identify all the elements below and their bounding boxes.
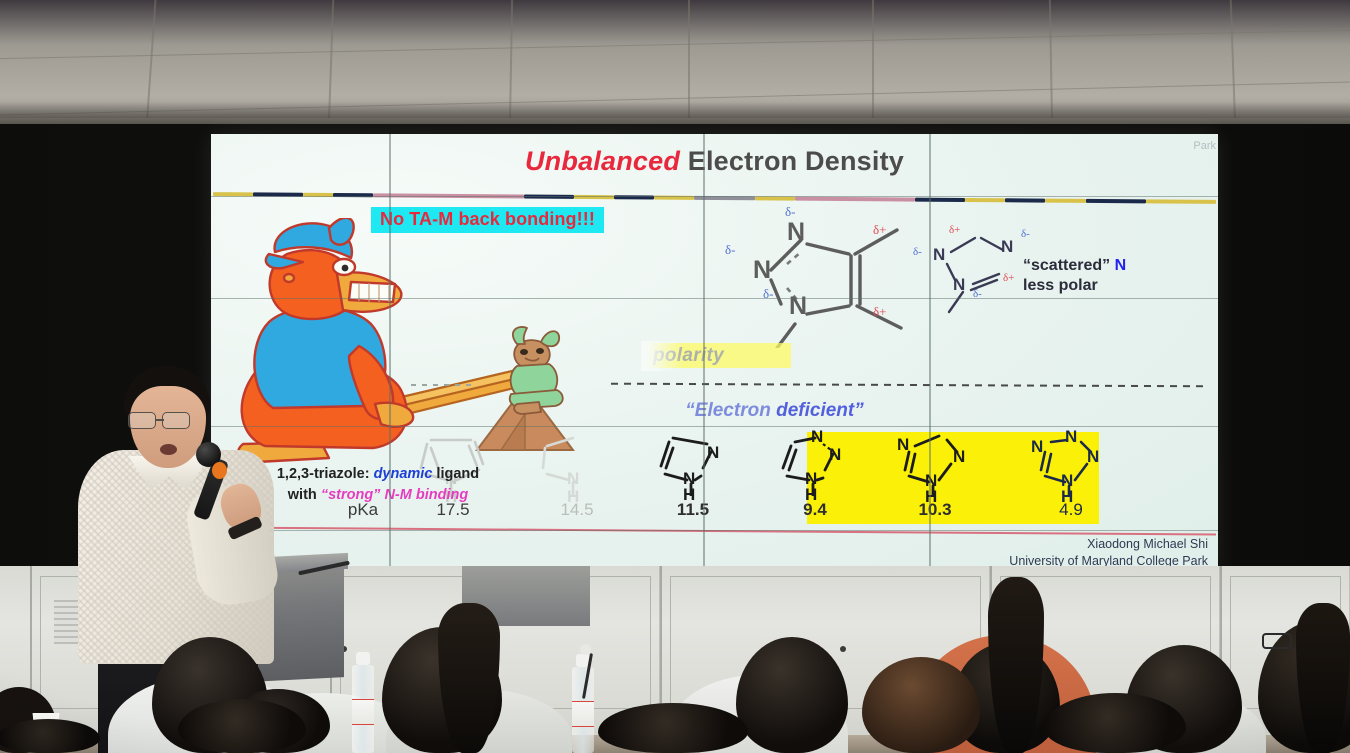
atom-label-nitrogen: N [1031,438,1043,455]
audience-eyeglasses [1262,633,1292,649]
audience-head [0,719,100,753]
ghost-overscan-text: Park [1193,140,1216,152]
delta-negative-label: δ- [763,286,773,302]
slide-title-rest: Electron Density [680,146,904,176]
dashed-rule-left [411,384,471,386]
molecule-tetrazole: N N N N H [1023,430,1119,496]
polarity-annotation: polarity [541,341,891,371]
delta-positive-label: δ+ [1003,272,1014,284]
pka-value: 4.9 [1023,500,1119,520]
slide-title: Unbalanced Electron Density [211,146,1218,177]
molecule-pyrazole-faded: N H [529,430,625,496]
delta-negative-label: δ- [913,246,922,258]
dashed-rule [611,383,1208,388]
bottle-label [572,701,594,727]
caption-strong: “strong” N-M binding [321,487,468,503]
decorative-divider [213,192,1216,205]
molecule-123-triazole: N N N H [767,430,863,496]
polarity-fade-mask [641,341,683,371]
atom-label-nitrogen: N [897,436,909,453]
bottle-cap [356,652,370,665]
presentation-slide: Unbalanced Electron Density [211,134,1218,571]
audience [0,570,1350,753]
caption-dynamic: dynamic [374,466,433,482]
screenshot-root: Unbalanced Electron Density [0,0,1350,753]
molecule-124-triazole: N N N H [887,430,983,496]
atom-label-nitrogen: N [789,294,807,319]
atom-label-nitrogen: N [829,446,841,463]
atom-label-nitrogen: N [1065,428,1077,445]
atom-label-nitrogen: N [933,246,945,263]
audience-head [598,703,748,753]
delta-negative-label: δ- [1021,228,1030,240]
pka-value: 10.3 [887,500,983,520]
presenter-mouth [160,444,177,455]
scattered-note-prefix: “scattered” [1023,257,1115,274]
microphone-foam-windscreen [212,462,227,479]
slide-title-emphasis: Unbalanced [525,146,680,176]
atom-label-nitrogen: N [1001,238,1013,255]
delta-positive-label: δ+ [873,222,886,238]
bottle-label [352,699,374,725]
video-wall-screen[interactable]: Unbalanced Electron Density [211,134,1218,571]
atom-label-nitrogen: N [1087,448,1099,465]
pka-value: 14.5 [529,500,625,520]
electron-deficient-strong: deficient” [776,400,864,421]
ceiling-grid-line [0,30,1350,60]
atom-label-nitrogen: N [953,448,965,465]
atom-label-nitrogen: N [811,428,823,445]
ceiling [0,0,1350,128]
eyeglasses-left-lens [128,412,156,429]
delta-negative-label: δ- [725,242,735,258]
attribution: Xiaodong Michael Shi University of Maryl… [1009,536,1208,570]
pka-value: 11.5 [645,500,741,520]
atom-label-nitrogen: N [753,258,771,283]
eyeglasses-right-lens [162,412,190,429]
scattered-n-note: “scattered” N less polar [1023,256,1126,297]
electron-deficient-prefix: “Electron [685,400,776,421]
eyeglasses-bridge [156,419,164,421]
electron-deficient-label: “Electron deficient” [211,400,1218,422]
atom-label-nitrogen: N [567,470,579,487]
atom-label-nitrogen: N [953,276,965,293]
audience-head [178,699,306,753]
desk-microphone-head [580,644,591,655]
attribution-name: Xiaodong Michael Shi [1009,536,1208,553]
delta-positive-label: δ+ [873,304,886,320]
delta-negative-label: δ- [973,288,982,300]
delta-positive-label: δ+ [949,224,960,236]
molecule-pyrazole: N N H [645,430,741,496]
atom-label-nitrogen: N [707,444,719,461]
audience-head [736,637,848,753]
audience-head [1044,693,1186,753]
scattered-note-line2: less polar [1023,277,1098,294]
caption-mid: ligand [432,466,479,482]
scattered-note-atom: N [1115,257,1127,274]
pka-value: 9.4 [767,500,863,520]
atom-label-nitrogen: N [787,220,805,245]
delta-negative-label: δ- [785,204,795,220]
